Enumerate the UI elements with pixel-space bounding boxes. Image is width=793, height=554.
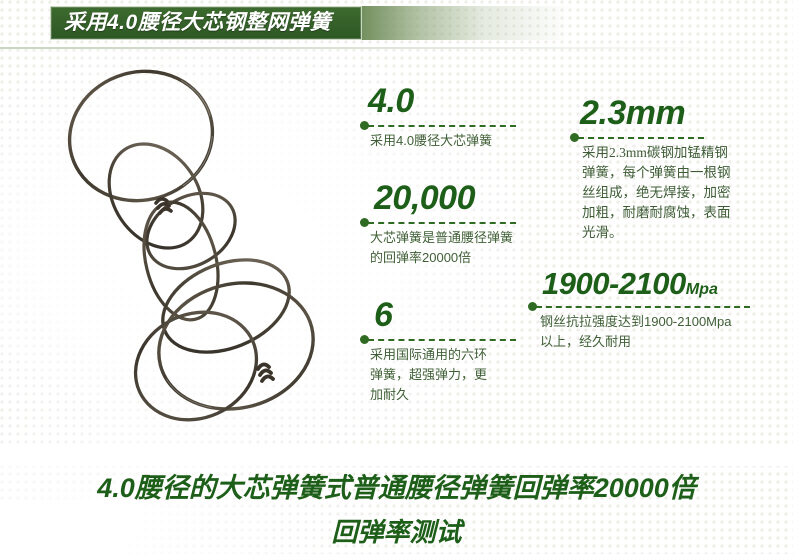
spring-ring-2	[90, 126, 222, 266]
spring-coils-illustration	[46, 56, 366, 446]
callout-2-3mm-description: 采用2.3mm碳钢加锰精钢 弹簧，每个弹簧由一根钢 丝组成，绝无焊接，加密 加粗…	[570, 143, 772, 243]
page-root: 采用4.0腰径大芯钢整网弹簧	[0, 0, 793, 554]
spring-ring-3	[133, 178, 248, 284]
dashed-line	[578, 137, 704, 139]
callout-mpa-number: 1900-2100	[542, 266, 686, 301]
banner-title: 采用4.0腰径大芯钢整网弹簧	[64, 9, 331, 37]
callout-2-3mm-value: 2.3mm	[570, 96, 772, 130]
footer-divider	[0, 448, 793, 466]
footer-line-2: 回弹率测试	[0, 510, 793, 554]
dashed-line	[368, 125, 516, 127]
footer-line-1: 4.0腰径的大芯弹簧式普通腰径弹簧回弹率20000倍	[0, 466, 793, 510]
callout-1900-2100mpa-description: 钢丝抗拉强度达到1900-2100Mpa 以上，经久耐用	[528, 312, 731, 352]
header-banner: 采用4.0腰径大芯钢整网弹簧	[50, 6, 520, 40]
dashed-line	[536, 306, 750, 308]
callout-20000: 20,000 大芯弹簧是普通腰径弹簧 的回弹率20000倍	[360, 181, 513, 268]
spring-ring-5	[149, 242, 303, 369]
dashed-line	[368, 222, 516, 224]
callout-20000-description: 大芯弹簧是普通腰径弹簧 的回弹率20000倍	[360, 228, 513, 268]
callout-4-0-rule	[360, 120, 492, 131]
callout-6: 6 采用国际通用的六环 弹簧，超强弹力，更 加耐久	[360, 298, 487, 405]
callout-2-3mm: 2.3mm 采用2.3mm碳钢加锰精钢 弹簧，每个弹簧由一根钢 丝组成，绝无焊接…	[570, 96, 772, 243]
callout-1900-2100mpa-value: 1900-2100Mpa	[528, 268, 731, 299]
callout-6-description: 采用国际通用的六环 弹簧，超强弹力，更 加耐久	[360, 345, 487, 405]
callout-1900-2100mpa-rule	[528, 301, 731, 312]
callout-6-value: 6	[360, 298, 487, 332]
callout-1900-2100mpa: 1900-2100Mpa 钢丝抗拉强度达到1900-2100Mpa 以上，经久耐…	[528, 268, 731, 352]
banner-underline	[0, 47, 793, 49]
banner-gradient-fade	[362, 6, 572, 40]
callout-6-rule	[360, 334, 487, 345]
footer-titles: 4.0腰径的大芯弹簧式普通腰径弹簧回弹率20000倍 回弹率测试	[0, 466, 793, 554]
callout-20000-rule	[360, 217, 513, 228]
spring-knot-upper	[156, 199, 171, 213]
callout-2-3mm-rule	[570, 132, 772, 143]
spring-knot-lower	[258, 364, 273, 381]
callout-4-0-value: 4.0	[360, 84, 492, 118]
spring-coils-image	[46, 56, 366, 446]
callout-4-0: 4.0 采用4.0腰径大芯弹簧	[360, 84, 492, 151]
dashed-line	[368, 339, 516, 341]
callout-mpa-unit: Mpa	[686, 280, 718, 298]
spring-ring-7	[118, 293, 274, 438]
callout-20000-value: 20,000	[360, 181, 513, 215]
callout-4-0-description: 采用4.0腰径大芯弹簧	[360, 131, 492, 151]
